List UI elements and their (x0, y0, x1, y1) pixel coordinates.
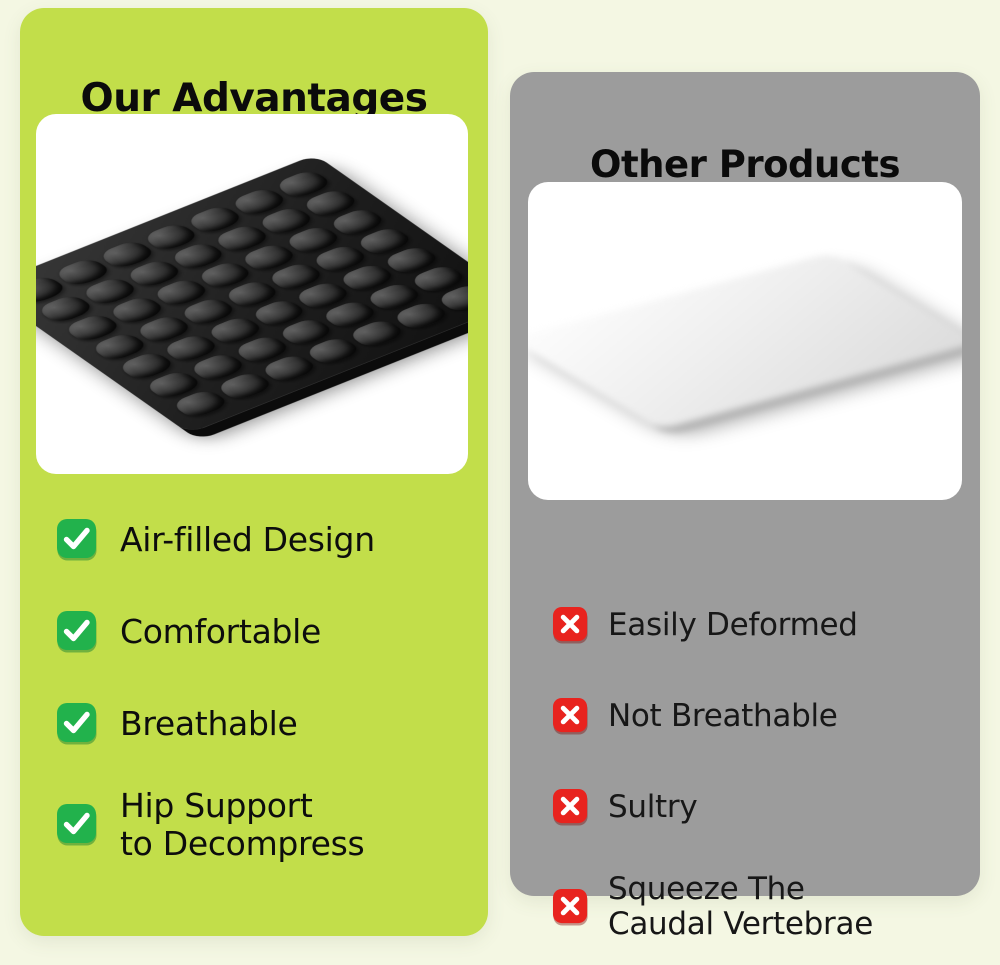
list-item: Hip Support to Decompress (56, 770, 470, 880)
air-cushion-illustration (36, 114, 468, 474)
list-item: Squeeze The Caudal Vertebrae (552, 853, 964, 961)
list-item-label: Air-filled Design (120, 521, 375, 559)
list-item: Comfortable (56, 586, 470, 678)
flat-foam-pad-illustration (528, 182, 962, 500)
list-item: Easily Deformed (552, 580, 964, 671)
other-products-card-title: Other Products (510, 143, 980, 186)
list-item: Sultry (552, 762, 964, 853)
red-cross-badge-icon (552, 697, 591, 736)
list-item-label: Squeeze The Caudal Vertebrae (608, 872, 873, 943)
advantages-feature-list: Air-filled Design Comfortable (56, 494, 470, 880)
list-item-label: Comfortable (120, 613, 321, 651)
other-products-feature-list: Easily Deformed Not Breathable (552, 580, 964, 961)
green-check-badge-icon (56, 610, 100, 654)
comparison-infographic: Our Advantages (0, 0, 1000, 965)
other-products-image-panel (528, 182, 962, 500)
list-item-label: Hip Support to Decompress (120, 787, 364, 864)
green-check-badge-icon (56, 702, 100, 746)
list-item: Breathable (56, 678, 470, 770)
list-item-label: Not Breathable (608, 699, 838, 734)
advantages-product-image-panel (36, 114, 468, 474)
other-products-card: Other Products Easily Deformed (510, 72, 980, 896)
red-cross-badge-icon (552, 888, 591, 927)
red-cross-badge-icon (552, 606, 591, 645)
advantages-card: Our Advantages (20, 8, 488, 936)
green-check-badge-icon (56, 518, 100, 562)
list-item: Not Breathable (552, 671, 964, 762)
list-item-label: Easily Deformed (608, 608, 858, 643)
red-cross-badge-icon (552, 788, 591, 827)
list-item: Air-filled Design (56, 494, 470, 586)
list-item-label: Sultry (608, 790, 697, 825)
green-check-badge-icon (56, 803, 100, 847)
list-item-label: Breathable (120, 705, 298, 743)
